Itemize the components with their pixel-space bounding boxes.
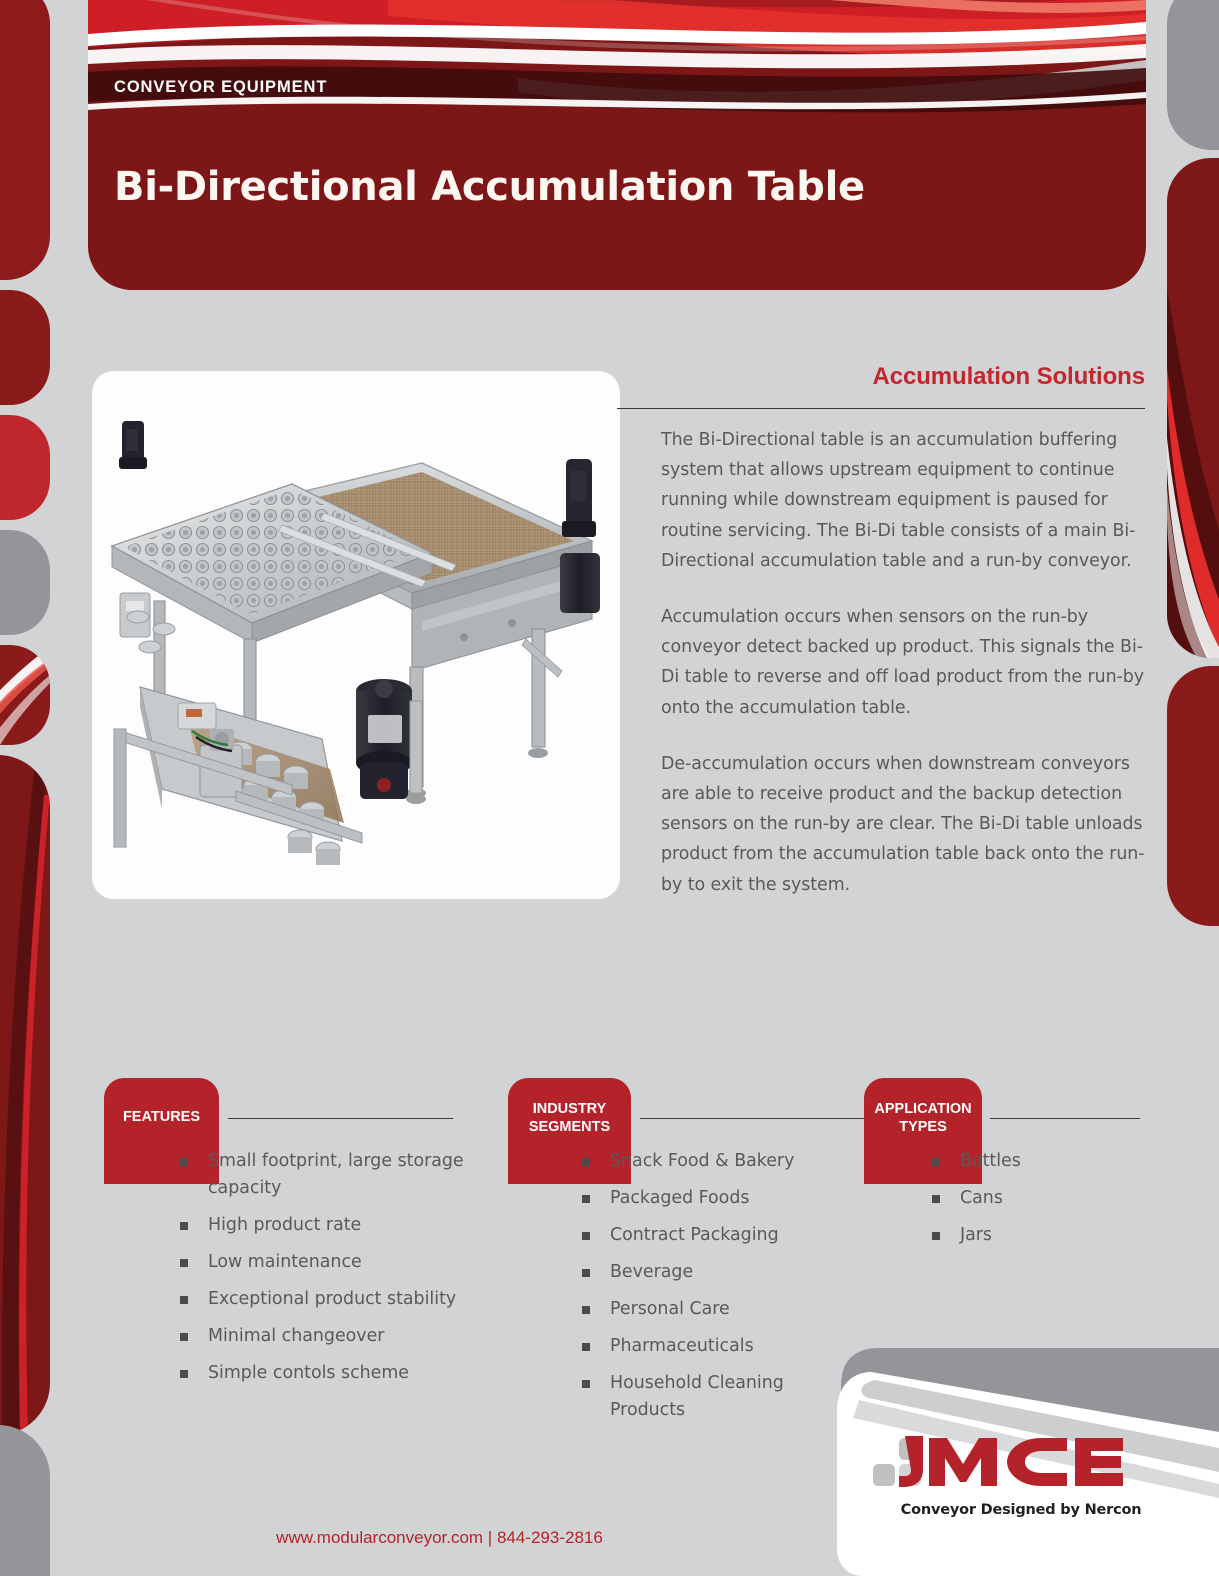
brochure-page: CONVEYOR EQUIPMENT Bi-Directional Accumu… [0,0,1219,1576]
edge-block-gray [0,530,50,635]
mce-logo-tagline: Conveyor Designed by Nercon [871,1502,1171,1518]
footer-contact: www.modularconveyor.com | 844-293-2816 [0,1528,1219,1548]
features-list: Small footprint, large storage capacity … [180,1148,510,1397]
list-item: Cans [932,1185,1162,1212]
list-item: Packaged Foods [582,1185,852,1212]
edge-block-large-red [0,755,50,1435]
list-item: Snack Food & Bakery [582,1148,852,1175]
header-kicker: CONVEYOR EQUIPMENT [114,78,327,97]
product-photo [92,371,620,899]
application-types-divider [990,1118,1140,1119]
edge-block-gray-bottom [0,1425,50,1576]
application-types-list: Bottles Cans Jars [932,1148,1162,1259]
list-item: Personal Care [582,1296,852,1323]
mce-logo-mark [871,1426,1171,1504]
page-title: Bi-Directional Accumulation Table [114,164,865,210]
overview-section: Accumulation Solutions The Bi-Directiona… [617,363,1145,900]
application-tab-line1: APPLICATION [874,1101,971,1117]
list-item: Simple contols scheme [180,1360,510,1387]
list-item: Pharmaceuticals [582,1333,852,1360]
edge-block-bright-red [0,415,50,520]
industry-tab-line1: INDUSTRY [533,1101,607,1117]
overview-heading: Accumulation Solutions [617,363,1145,391]
industry-segments-tab-label: INDUSTRY SEGMENTS [529,1100,610,1136]
list-item: Low maintenance [180,1249,510,1276]
industry-segments-divider [640,1118,870,1119]
edge-block-swirl [0,645,50,745]
features-divider [228,1118,453,1119]
overview-paragraph-3: De-accumulation occurs when downstream c… [661,749,1145,900]
overview-paragraph-2: Accumulation occurs when sensors on the … [661,602,1145,723]
application-tab-line2: TYPES [899,1119,947,1135]
header-wave-graphic [88,0,1146,121]
header-banner: CONVEYOR EQUIPMENT Bi-Directional Accumu… [88,0,1146,290]
edge-block-dark-red-top [0,0,50,280]
mce-logo: Conveyor Designed by Nercon [871,1426,1171,1518]
list-item: Minimal changeover [180,1323,510,1350]
industry-segments-list: Snack Food & Bakery Packaged Foods Contr… [582,1148,852,1434]
list-item: Bottles [932,1148,1162,1175]
overview-paragraph-1: The Bi-Directional table is an accumulat… [661,425,1145,576]
product-photo-illustration [92,371,620,899]
list-item: Contract Packaging [582,1222,852,1249]
list-item: Household Cleaning Products [582,1370,852,1424]
list-item: Beverage [582,1259,852,1286]
features-tab-label: FEATURES [123,1108,200,1126]
edge-block-gray-right-top [1167,0,1219,150]
industry-tab-line2: SEGMENTS [529,1119,610,1135]
list-item: Exceptional product stability [180,1286,510,1313]
list-item: Small footprint, large storage capacity [180,1148,510,1202]
list-item: High product rate [180,1212,510,1239]
overview-divider [617,408,1145,409]
edge-block-dark-red [0,290,50,405]
edge-block-dark-red-right [1167,666,1219,926]
edge-block-swirl-right [1167,158,1219,658]
application-types-tab-label: APPLICATION TYPES [874,1100,971,1136]
list-item: Jars [932,1222,1162,1249]
